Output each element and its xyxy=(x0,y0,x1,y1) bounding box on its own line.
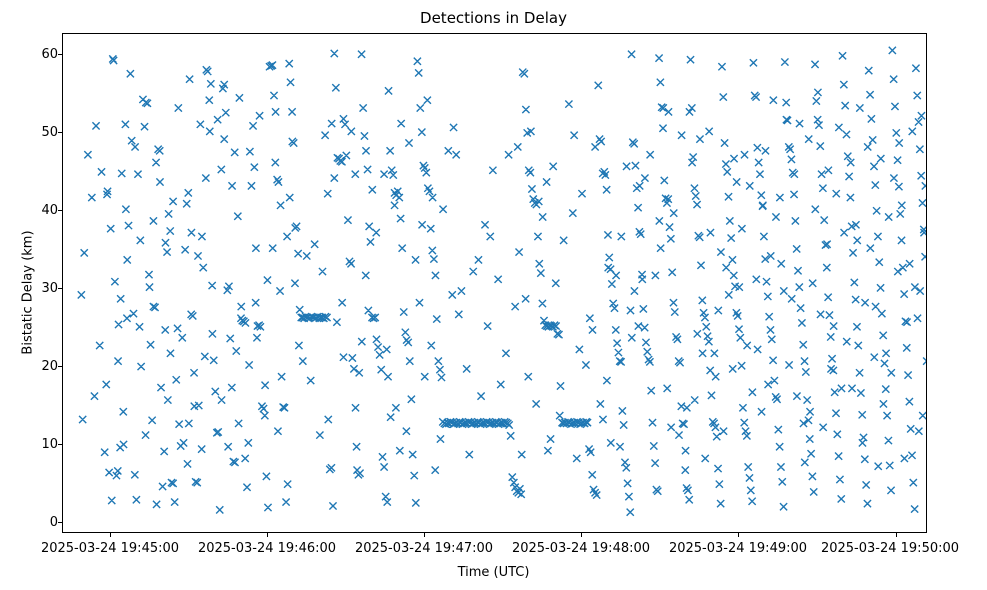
figure-canvas: Detections in Delay 60 50 40 30 20 10 0 … xyxy=(0,0,987,590)
y-tick-label: 50 xyxy=(18,126,58,139)
x-tick-label: 2025-03-24 19:50:00 xyxy=(821,541,959,556)
x-tick-label: 2025-03-24 19:49:00 xyxy=(669,541,807,556)
x-tick-label: 2025-03-24 19:48:00 xyxy=(512,541,650,556)
y-tick-label: 10 xyxy=(18,438,58,451)
scatter-marker-group xyxy=(78,47,926,516)
scatter-markers-path xyxy=(78,47,926,516)
y-axis-label: Bistatic Delay (km) xyxy=(21,230,36,354)
y-tick-label: 60 xyxy=(18,48,58,61)
y-tick-label: 0 xyxy=(18,516,58,529)
x-axis-label: Time (UTC) xyxy=(0,565,987,580)
x-tick-mark xyxy=(581,533,582,537)
y-axis-label-wrapper: Bistatic Delay (km) xyxy=(17,173,36,413)
scatter-svg xyxy=(63,34,926,532)
x-tick-mark xyxy=(896,533,897,537)
scatter-points-layer xyxy=(63,34,926,532)
x-tick-mark xyxy=(110,533,111,537)
plot-area xyxy=(62,33,927,533)
x-tick-mark xyxy=(424,533,425,537)
x-tick-label: 2025-03-24 19:46:00 xyxy=(198,541,336,556)
x-tick-mark xyxy=(267,533,268,537)
x-tick-label: 2025-03-24 19:45:00 xyxy=(41,541,179,556)
x-tick-mark xyxy=(738,533,739,537)
chart-title: Detections in Delay xyxy=(0,8,987,28)
x-tick-label: 2025-03-24 19:47:00 xyxy=(355,541,493,556)
